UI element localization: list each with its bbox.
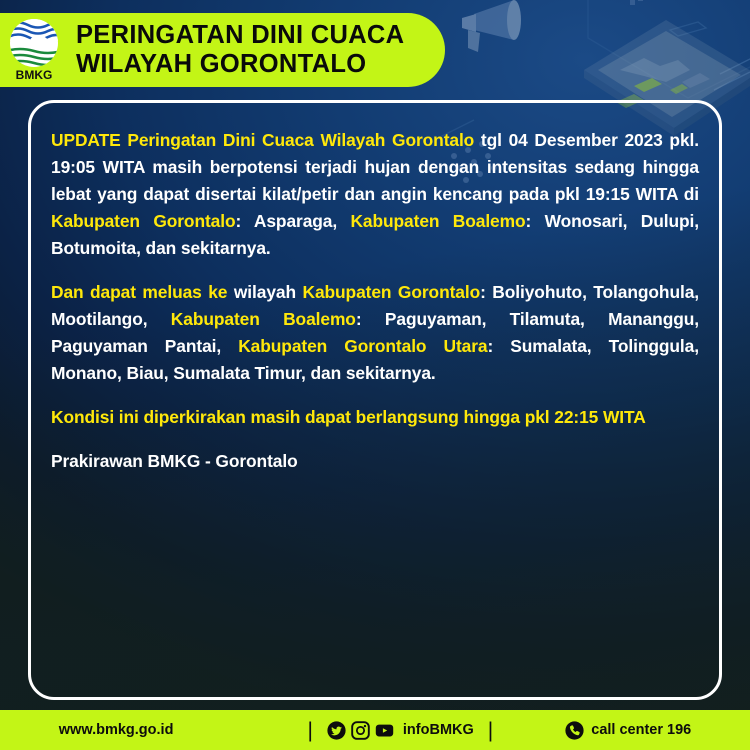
paragraph-3: Kondisi ini diperkirakan masih dapat ber… — [51, 404, 699, 431]
p2-highlight-lead: Dan dapat meluas ke — [51, 282, 227, 302]
p1-text-4: : Asparaga, — [236, 211, 351, 231]
logo-text: BMKG — [16, 68, 53, 82]
youtube-icon[interactable] — [375, 721, 394, 740]
p2-highlight-region-2: Kabupaten Boalemo — [171, 309, 356, 329]
weather-warning-poster: BMKG PERINGATAN DINI CUACA WILAYAH GORON… — [0, 0, 750, 750]
p3-highlight-duration: Kondisi ini diperkirakan masih dapat ber… — [51, 407, 646, 427]
p1-highlight-region-2: Kabupaten Boalemo — [350, 211, 525, 231]
signature-line: Prakirawan BMKG - Gorontalo — [51, 448, 699, 475]
call-center-label: call center 196 — [591, 722, 691, 738]
paragraph-1: UPDATE Peringatan Dini Cuaca Wilayah Gor… — [51, 127, 699, 262]
footer-bar: www.bmkg.go.id | — [0, 710, 750, 750]
footer-social: infoBMKG — [327, 721, 474, 740]
p1-highlight-title: UPDATE Peringatan Dini Cuaca Wilayah Gor… — [51, 130, 474, 150]
instagram-icon[interactable] — [351, 721, 370, 740]
header-banner: BMKG PERINGATAN DINI CUACA WILAYAH GORON… — [0, 13, 445, 87]
footer-website[interactable]: www.bmkg.go.id — [59, 722, 174, 738]
paragraph-2: Dan dapat meluas ke wilayah Kabupaten Go… — [51, 279, 699, 387]
p2-highlight-region-1: Kabupaten Gorontalo — [302, 282, 480, 302]
p2-highlight-region-3: Kabupaten Gorontalo Utara — [238, 336, 487, 356]
warning-body: UPDATE Peringatan Dini Cuaca Wilayah Gor… — [51, 127, 699, 475]
footer-separator-left: | — [307, 720, 312, 741]
p2-text-2: wilayah — [227, 282, 302, 302]
footer-call-center[interactable]: call center 196 — [565, 721, 691, 740]
footer-separator-right: | — [488, 720, 493, 741]
page-title: PERINGATAN DINI CUACA WILAYAH GORONTALO — [76, 21, 404, 78]
twitter-icon[interactable] — [327, 721, 346, 740]
social-handle: infoBMKG — [403, 722, 474, 738]
p1-highlight-region-1: Kabupaten Gorontalo — [51, 211, 236, 231]
warning-card: UPDATE Peringatan Dini Cuaca Wilayah Gor… — [28, 100, 722, 700]
phone-icon — [565, 721, 584, 740]
bmkg-logo: BMKG — [6, 18, 62, 82]
